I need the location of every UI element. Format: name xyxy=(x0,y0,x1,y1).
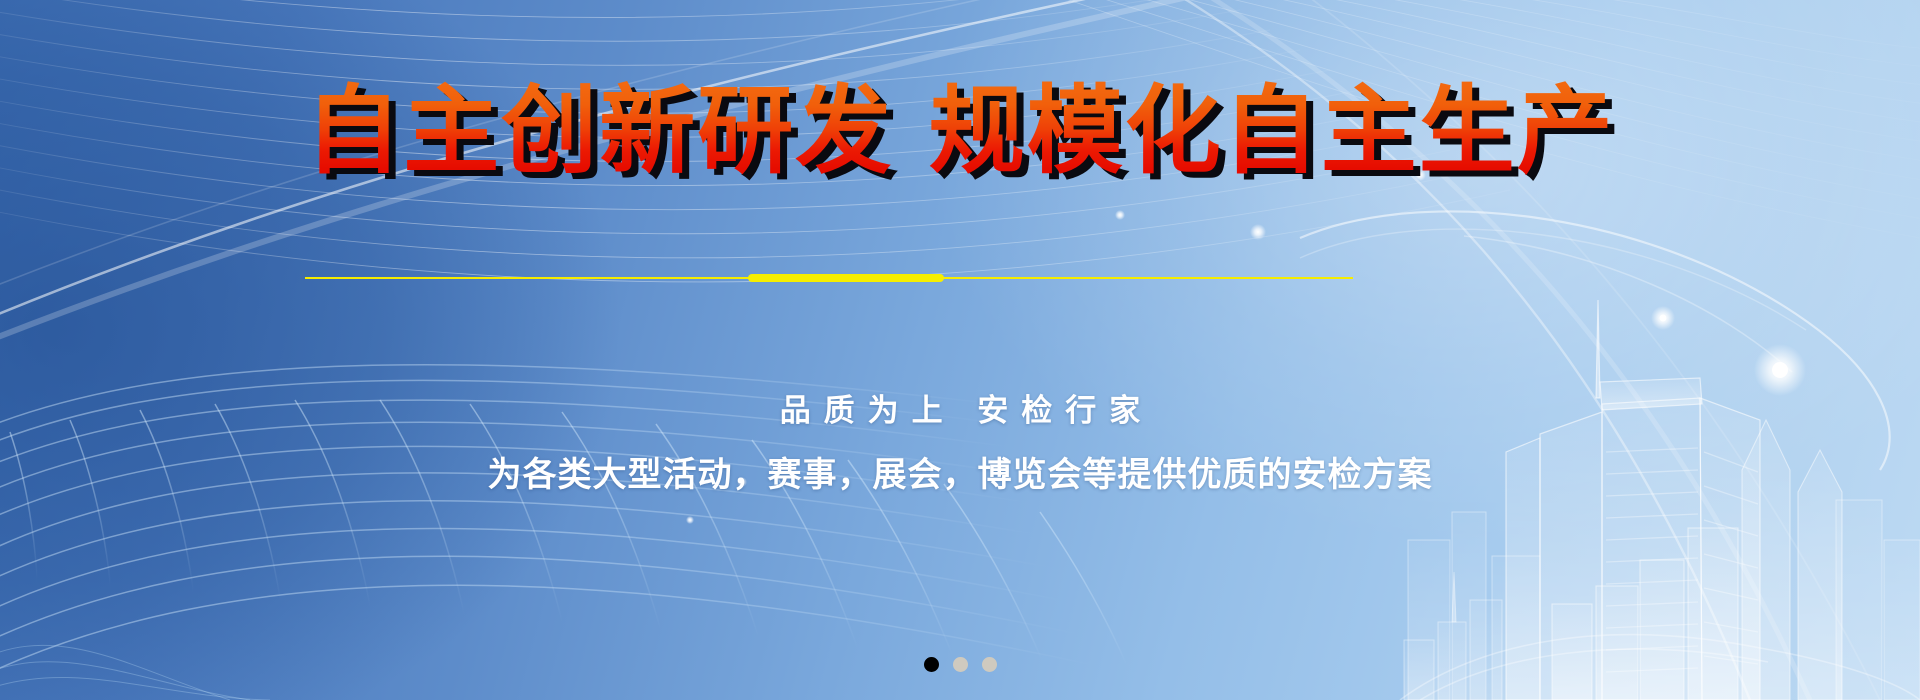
banner-headline: 自主创新研发 规模化自主生产 自主创新研发 规模化自主生产 xyxy=(305,78,1614,186)
subtitle-secondary: 为各类大型活动，赛事，展会，博览会等提供优质的安检方案 xyxy=(0,447,1920,496)
hero-banner: 自主创新研发 规模化自主生产 自主创新研发 规模化自主生产 品质为上 安检行家 … xyxy=(0,0,1920,700)
carousel-dots[interactable] xyxy=(0,657,1920,672)
subtitle-primary: 品质为上 安检行家 xyxy=(0,385,1920,430)
carousel-dot-2[interactable] xyxy=(953,657,968,672)
headline-container: 自主创新研发 规模化自主生产 自主创新研发 规模化自主生产 xyxy=(0,78,1920,186)
yellow-divider xyxy=(305,274,1353,282)
headline-text: 自主创新研发 规模化自主生产 xyxy=(305,75,1614,187)
carousel-dot-3[interactable] xyxy=(982,657,997,672)
divider-thick-segment xyxy=(748,274,944,282)
carousel-dot-1[interactable] xyxy=(924,657,939,672)
